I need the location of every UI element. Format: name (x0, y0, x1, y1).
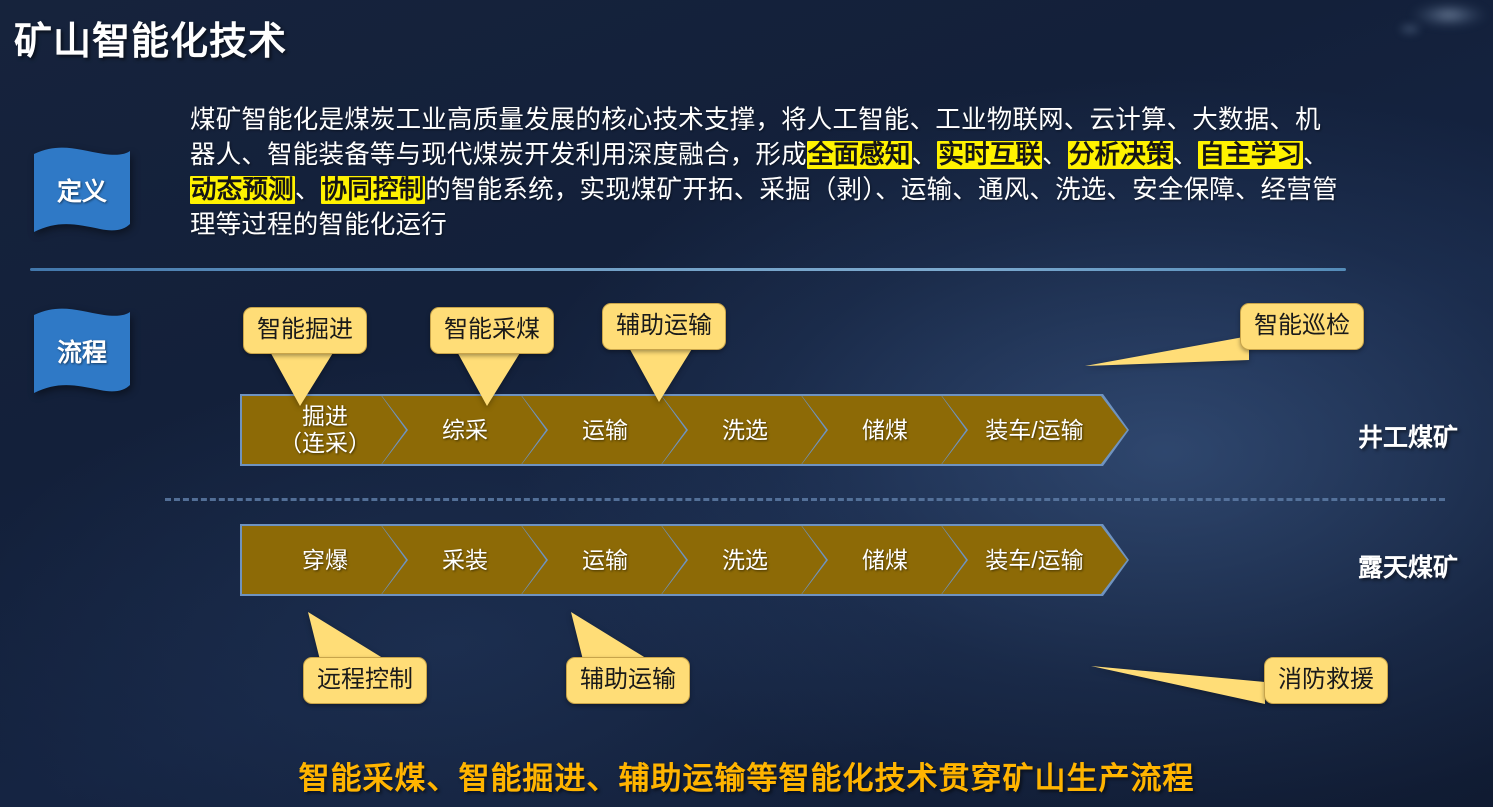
callout-tail-left (1091, 660, 1271, 713)
process-step-label: 洗选 (718, 417, 772, 444)
section-flag-definition: 定义 (30, 144, 134, 239)
definition-highlight-term: 分析决策 (1068, 141, 1173, 169)
callout-label: 远程控制 (317, 666, 413, 693)
definition-paragraph: 煤矿智能化是煤炭工业高质量发展的核心技术支撑，将人工智能、工业物联网、云计算、大… (190, 103, 1340, 243)
definition-text-run: 、 (912, 141, 938, 169)
section-flag-definition-label: 定义 (30, 144, 134, 239)
callout-tail-down (449, 348, 539, 415)
process-step-label: 综采 (438, 417, 492, 444)
definition-highlight-term: 协同控制 (321, 176, 426, 204)
row-label-underground: 井工煤矿 (1358, 418, 1458, 454)
process-step-label: 洗选 (718, 547, 772, 574)
callout-bottom-1[interactable]: 远程控制 (303, 657, 427, 704)
callout-label: 辅助运输 (580, 666, 676, 693)
light-streak-decoration (1411, 4, 1487, 26)
definition-highlight-term: 动态预测 (190, 176, 295, 204)
process-step-open-pit[interactable]: 装车/运输 (942, 526, 1127, 594)
process-step-label: 运输 (578, 417, 632, 444)
process-step-open-pit[interactable]: 穿爆 (242, 526, 408, 594)
definition-highlight-term: 实时互联 (937, 141, 1042, 169)
process-step-label: 装车/运输 (981, 547, 1087, 574)
callout-2[interactable]: 智能采煤 (430, 307, 554, 354)
callout-1[interactable]: 智能掘进 (243, 307, 367, 354)
definition-highlight-term: 全面感知 (807, 141, 912, 169)
row-label-open-pit: 露天煤矿 (1358, 548, 1458, 584)
callout-label: 消防救援 (1278, 666, 1374, 693)
definition-highlight-term: 自主学习 (1198, 141, 1303, 169)
section-divider (30, 268, 1346, 271)
definition-text-run: 、 (1042, 141, 1068, 169)
process-step-label: 运输 (578, 547, 632, 574)
definition-text-run: 、 (295, 176, 321, 204)
definition-text-run: 、 (1173, 141, 1199, 169)
callout-bottom-3[interactable]: 消防救援 (1264, 657, 1388, 704)
callout-4[interactable]: 智能巡检 (1240, 303, 1364, 350)
callout-label: 智能采煤 (444, 316, 540, 343)
callout-3[interactable]: 辅助运输 (602, 303, 726, 350)
summary-text: 智能采煤、智能掘进、辅助运输等智能化技术贯穿矿山生产流程 (0, 753, 1493, 798)
callout-tail-left (1085, 330, 1255, 381)
callout-label: 智能巡检 (1254, 312, 1350, 339)
slide-canvas: 矿山智能化技术 定义 流程 煤矿智能化是煤炭工业高质量发展的核心技术支撑，将人工… (0, 0, 1493, 807)
definition-text-run: 、 (1303, 141, 1329, 169)
section-flag-process-label: 流程 (30, 305, 134, 400)
callout-label: 辅助运输 (616, 312, 712, 339)
process-step-label: 采装 (438, 547, 492, 574)
callout-bottom-2[interactable]: 辅助运输 (566, 657, 690, 704)
row-dashed-divider (165, 498, 1445, 501)
process-step-label: 装车/运输 (981, 417, 1087, 444)
process-step-label: 储煤 (858, 417, 912, 444)
process-step-underground[interactable]: 装车/运输 (942, 396, 1127, 464)
process-step-label: 储煤 (858, 547, 912, 574)
light-streak-decoration-small (1397, 22, 1423, 36)
page-title: 矿山智能化技术 (14, 10, 287, 65)
callout-tail-down (621, 344, 711, 411)
callout-label: 智能掘进 (257, 316, 353, 343)
callout-tail-down (262, 348, 352, 415)
process-step-label: 穿爆 (298, 547, 352, 574)
section-flag-process: 流程 (30, 305, 134, 400)
